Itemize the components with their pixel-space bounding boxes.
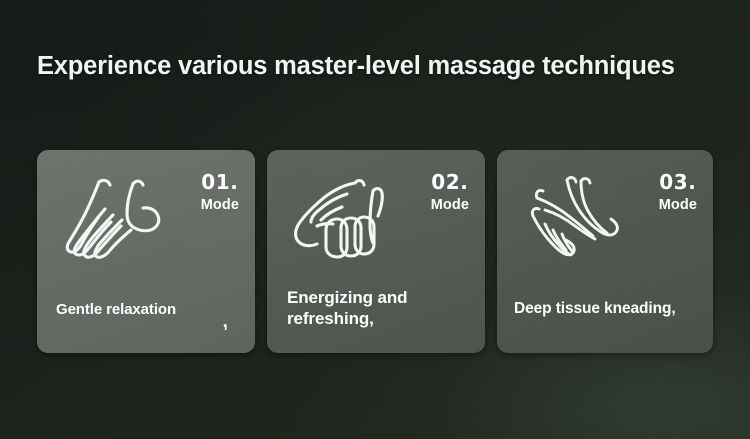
slide-canvas: Experience various master-level massage … bbox=[0, 0, 750, 439]
two-hands-kneading-icon bbox=[515, 174, 630, 262]
hand-fingers-down-icon bbox=[55, 174, 170, 262]
mode-label: Mode bbox=[659, 198, 697, 213]
card-caption: Energizing and refreshing, bbox=[287, 287, 471, 331]
caption-line-1: Energizing and bbox=[287, 287, 471, 309]
mode-number: 02. bbox=[431, 172, 469, 192]
caption-line-2: refreshing, bbox=[287, 308, 471, 330]
card-content: 02. Mode Energizing and refreshing, bbox=[267, 150, 485, 353]
mode-indicator: 01. Mode bbox=[201, 172, 239, 213]
mode-label: Mode bbox=[431, 198, 469, 213]
mode-card-02[interactable]: 02. Mode Energizing and refreshing, bbox=[267, 150, 485, 353]
mode-indicator: 03. Mode bbox=[659, 172, 697, 213]
mode-card-list: 01. Mode Gentle relaxation , bbox=[37, 150, 713, 353]
hand-fist-icon bbox=[285, 174, 400, 262]
mode-number: 03. bbox=[659, 172, 697, 192]
mode-card-03[interactable]: 03. Mode Deep tissue kneading, bbox=[497, 150, 713, 353]
card-content: 01. Mode Gentle relaxation , bbox=[37, 150, 255, 353]
mode-card-01[interactable]: 01. Mode Gentle relaxation , bbox=[37, 150, 255, 353]
page-title: Experience various master-level massage … bbox=[37, 52, 675, 81]
card-caption: Gentle relaxation bbox=[56, 300, 241, 319]
mode-label: Mode bbox=[201, 198, 239, 213]
mode-indicator: 02. Mode bbox=[431, 172, 469, 213]
card-caption: Deep tissue kneading, bbox=[514, 299, 699, 319]
card-content: 03. Mode Deep tissue kneading, bbox=[497, 150, 713, 353]
mode-number: 01. bbox=[201, 172, 239, 192]
